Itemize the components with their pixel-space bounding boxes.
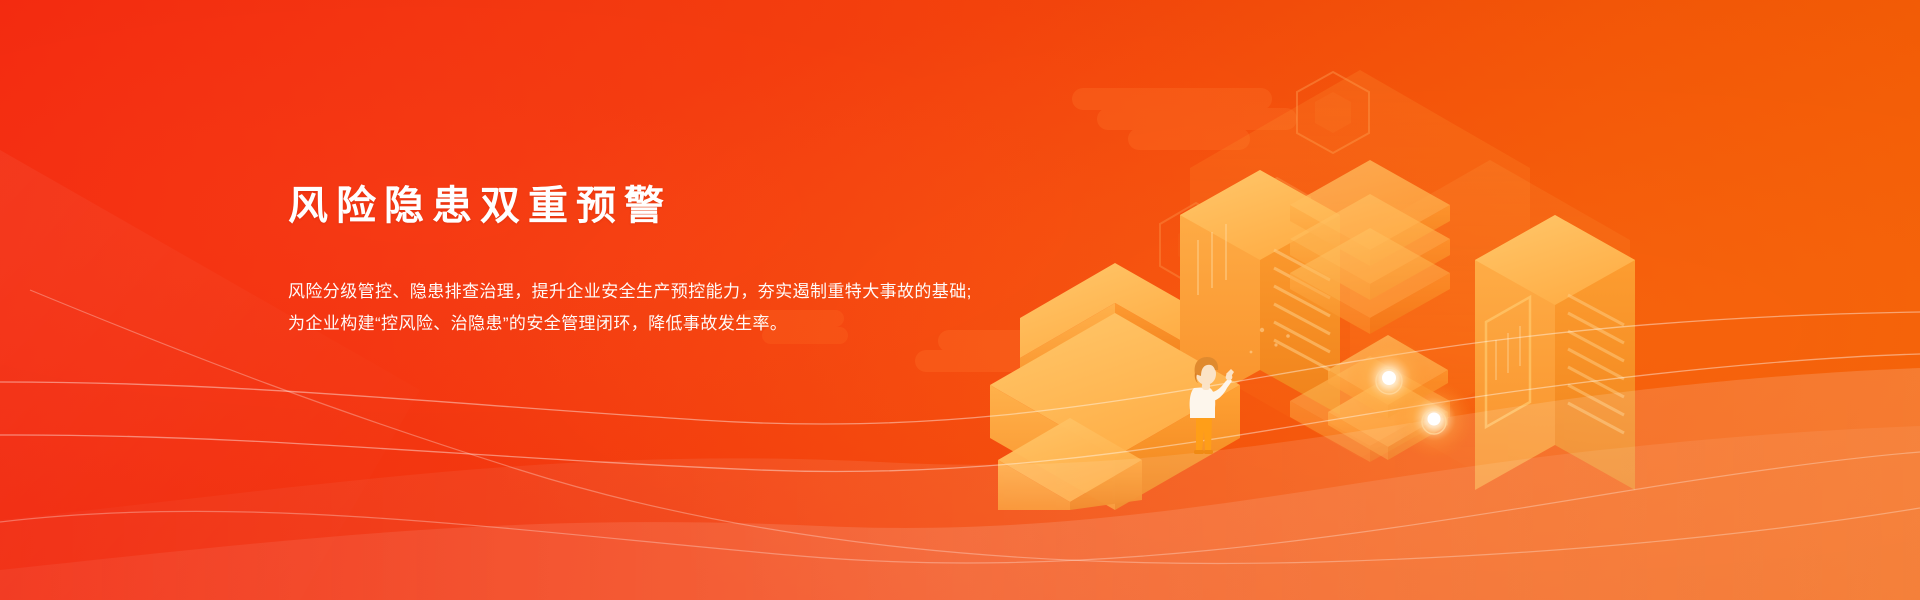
server-stack-right — [1475, 215, 1635, 490]
person-shirt — [1190, 378, 1232, 418]
person-head — [1195, 357, 1219, 385]
person-pants — [1196, 414, 1212, 452]
banner-subtitle-line-2: 为企业构建“控风险、治隐患”的安全管理闭环，降低事故发生率。 — [288, 308, 988, 340]
promo-banner: 风险隐患双重预警 风险分级管控、隐患排查治理，提升企业安全生产预控能力，夯实遏制… — [0, 0, 1920, 600]
banner-text-block: 风险隐患双重预警 风险分级管控、隐患排查治理，提升企业安全生产预控能力，夯实遏制… — [288, 180, 988, 340]
person-pointing-illustration — [1178, 336, 1238, 456]
person-hand — [1226, 369, 1234, 380]
person-shoes — [1194, 450, 1213, 454]
banner-headline: 风险隐患双重预警 — [288, 180, 988, 232]
banner-subtitle-line-1: 风险分级管控、隐患排查治理，提升企业安全生产预控能力，夯实遏制重特大事故的基础; — [288, 276, 988, 308]
isometric-illustration — [930, 40, 1690, 510]
